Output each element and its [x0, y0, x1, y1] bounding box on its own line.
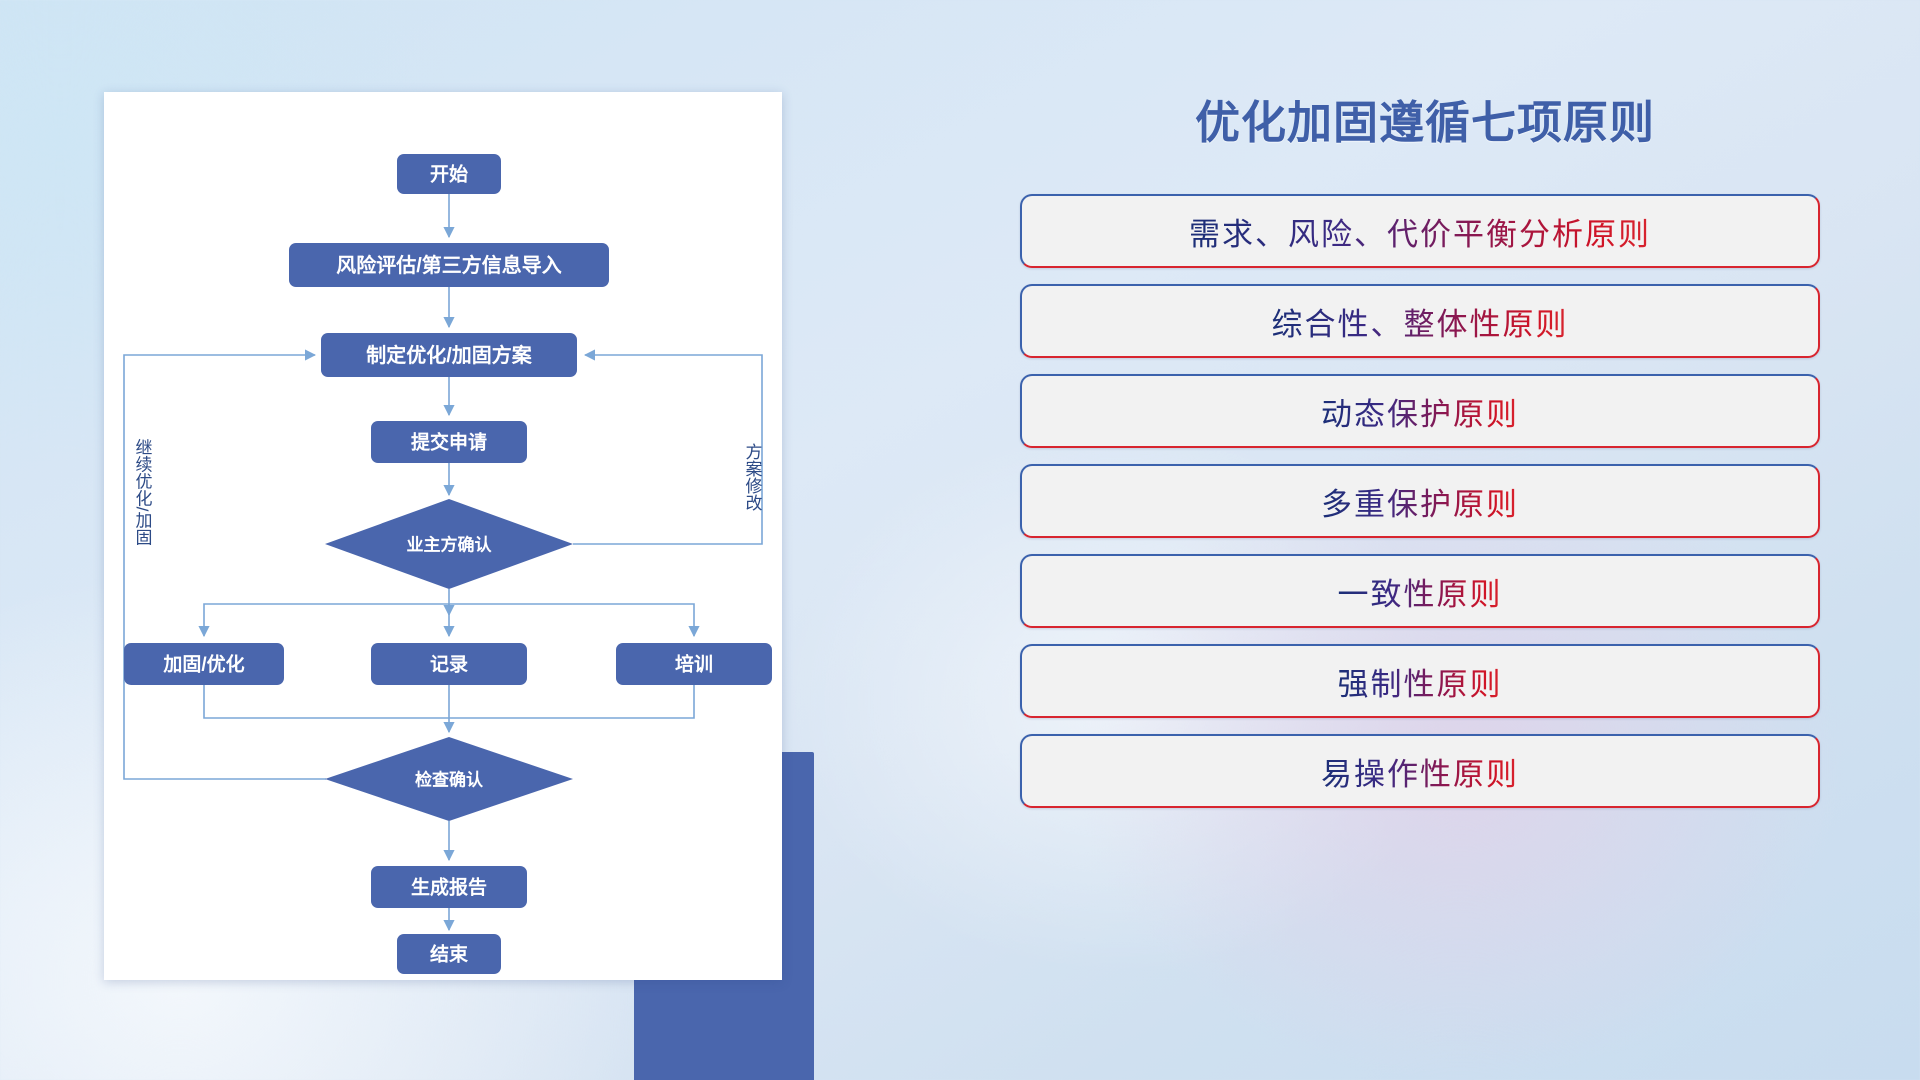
flowchart-card: 开始风险评估/第三方信息导入制定优化/加固方案提交申请业主方确认加固/优化记录培… [104, 92, 782, 980]
principle-label: 动态保护原则 [1321, 389, 1519, 434]
principle-label: 强制性原则 [1338, 659, 1503, 704]
flow-node-reinforce: 加固/优化 [124, 643, 284, 685]
flow-node-start: 开始 [397, 154, 501, 194]
flow-node-submit: 提交申请 [371, 421, 527, 463]
flow-node-end: 结束 [397, 934, 501, 974]
flowchart-nodes: 开始风险评估/第三方信息导入制定优化/加固方案提交申请业主方确认加固/优化记录培… [124, 154, 772, 974]
principle-item-p6[interactable]: 强制性原则 [1020, 644, 1820, 718]
principle-label: 一致性原则 [1338, 569, 1503, 614]
flow-node-training: 培训 [616, 643, 772, 685]
principle-item-p7[interactable]: 易操作性原则 [1020, 734, 1820, 808]
flow-node-label: 记录 [430, 654, 468, 676]
principle-label: 综合性、整体性原则 [1272, 299, 1569, 344]
flow-node-label: 培训 [675, 653, 713, 676]
principle-item-p5[interactable]: 一致性原则 [1020, 554, 1820, 628]
flow-node-plan: 制定优化/加固方案 [321, 333, 577, 377]
principle-label: 多重保护原则 [1321, 479, 1519, 524]
flow-node-record: 记录 [371, 643, 527, 685]
principle-label: 易操作性原则 [1321, 749, 1519, 794]
flow-node-label: 制定优化/加固方案 [366, 343, 533, 367]
flowchart-panel: 开始风险评估/第三方信息导入制定优化/加固方案提交申请业主方确认加固/优化记录培… [104, 92, 794, 992]
flow-node-risk: 风险评估/第三方信息导入 [289, 243, 609, 287]
flow-node-ownercfm: 业主方确认 [325, 499, 573, 589]
principle-label: 需求、风险、代价平衡分析原则 [1189, 209, 1651, 254]
flow-node-label: 开始 [430, 163, 468, 186]
flow-node-label: 风险评估/第三方信息导入 [336, 253, 562, 277]
page-title: 优化加固遵循七项原则 [1010, 86, 1840, 151]
principle-item-p4[interactable]: 多重保护原则 [1020, 464, 1820, 538]
flow-node-label: 结束 [430, 943, 469, 966]
flow-node-inspect: 检查确认 [325, 737, 573, 821]
flow-node-label: 提交申请 [411, 431, 487, 454]
principle-item-p1[interactable]: 需求、风险、代价平衡分析原则 [1020, 194, 1820, 268]
flow-node-label: 加固/优化 [162, 653, 244, 676]
flow-node-label: 生成报告 [411, 876, 487, 899]
flow-node-label: 检查确认 [415, 770, 484, 790]
principles-panel: 优化加固遵循七项原则 需求、风险、代价平衡分析原则综合性、整体性原则动态保护原则… [1010, 86, 1840, 1016]
flow-edge-label-loop-left: 继续优化/加固 [133, 439, 153, 546]
principles-list: 需求、风险、代价平衡分析原则综合性、整体性原则动态保护原则多重保护原则一致性原则… [1020, 194, 1820, 824]
flow-node-report: 生成报告 [371, 866, 527, 908]
flowchart-svg: 开始风险评估/第三方信息导入制定优化/加固方案提交申请业主方确认加固/优化记录培… [104, 92, 782, 980]
principle-item-p3[interactable]: 动态保护原则 [1020, 374, 1820, 448]
principle-item-p2[interactable]: 综合性、整体性原则 [1020, 284, 1820, 358]
flow-node-label: 业主方确认 [407, 535, 493, 555]
flow-edge-label-loop-right: 方案修改 [743, 443, 763, 511]
